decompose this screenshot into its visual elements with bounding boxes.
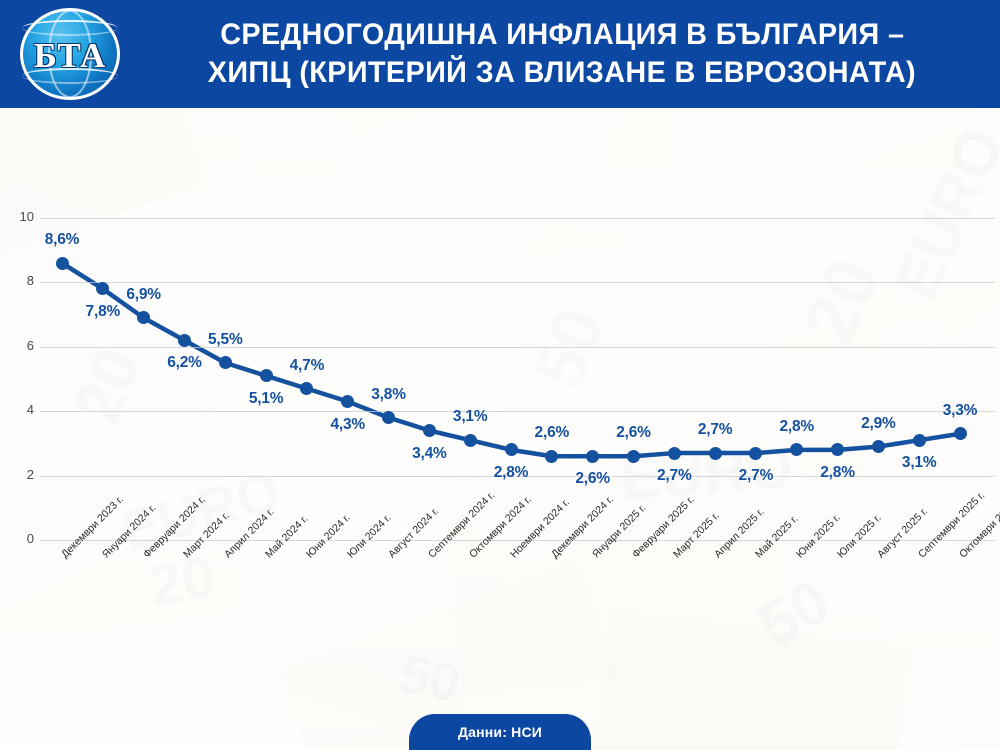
- logo-text: БТА: [14, 36, 126, 76]
- data-point-label: 2,7%: [698, 421, 733, 439]
- data-point-marker: [627, 450, 640, 463]
- data-point-label: 3,3%: [943, 402, 978, 420]
- gridline: [40, 282, 995, 283]
- data-point-marker: [709, 447, 722, 460]
- data-point-marker: [545, 450, 558, 463]
- infographic-page: EURO 20 50 20 EURO EURO 20 50 50 0246810…: [0, 0, 1000, 750]
- y-axis-tick: 2: [8, 467, 34, 482]
- data-point-label: 2,7%: [739, 467, 774, 485]
- data-point-label: 5,5%: [208, 331, 243, 349]
- data-point-label: 4,3%: [330, 416, 365, 434]
- gridline: [40, 218, 995, 219]
- data-point-marker: [872, 440, 885, 453]
- bta-logo: БТА: [14, 6, 126, 102]
- data-point-label: 3,1%: [902, 454, 937, 472]
- data-point-marker: [668, 447, 681, 460]
- page-title: СРЕДНОГОДИШНА ИНФЛАЦИЯ В БЪЛГАРИЯ – ХИПЦ…: [136, 8, 988, 100]
- data-point-marker: [749, 447, 762, 460]
- title-line-2: ХИПЦ (КРИТЕРИЙ ЗА ВЛИЗАНЕ В ЕВРОЗОНАТА): [208, 54, 916, 92]
- data-point-marker: [913, 434, 926, 447]
- data-point-marker: [505, 443, 518, 456]
- data-point-label: 2,6%: [616, 424, 651, 442]
- data-point-label: 6,9%: [126, 286, 161, 304]
- data-point-label: 4,7%: [290, 357, 325, 375]
- data-point-label: 5,1%: [249, 390, 284, 408]
- data-point-label: 2,6%: [575, 470, 610, 488]
- data-point-label: 2,8%: [494, 464, 529, 482]
- data-point-label: 7,8%: [86, 303, 121, 321]
- y-axis-tick: 10: [8, 209, 34, 224]
- chart-line-svg: [0, 0, 1000, 750]
- data-point-label: 3,4%: [412, 445, 447, 463]
- data-point-marker: [586, 450, 599, 463]
- source-label: Данни: НСИ: [458, 724, 542, 740]
- inflation-line-chart: 0246810 Декември 2023 г.Януари 2024 г.Фе…: [0, 0, 1000, 750]
- data-point-label: 6,2%: [167, 354, 202, 372]
- data-point-label: 2,7%: [657, 467, 692, 485]
- data-point-label: 3,1%: [453, 408, 488, 426]
- y-axis-tick: 8: [8, 273, 34, 288]
- y-axis-tick: 6: [8, 338, 34, 353]
- data-point-marker: [423, 424, 436, 437]
- data-point-marker: [178, 334, 191, 347]
- y-axis-tick: 4: [8, 402, 34, 417]
- y-axis-tick: 0: [8, 531, 34, 546]
- data-point-label: 2,9%: [861, 415, 896, 433]
- data-point-marker: [56, 257, 69, 270]
- data-point-label: 2,8%: [820, 464, 855, 482]
- data-point-label: 2,8%: [779, 418, 814, 436]
- gridline: [40, 411, 995, 412]
- data-point-marker: [954, 427, 967, 440]
- header-bar: БТА СРЕДНОГОДИШНА ИНФЛАЦИЯ В БЪЛГАРИЯ – …: [0, 0, 1000, 108]
- data-point-label: 3,8%: [371, 386, 406, 404]
- data-point-label: 8,6%: [45, 231, 80, 249]
- title-line-1: СРЕДНОГОДИШНА ИНФЛАЦИЯ В БЪЛГАРИЯ –: [220, 16, 904, 54]
- data-point-marker: [260, 369, 273, 382]
- gridline: [40, 347, 995, 348]
- data-point-label: 2,6%: [535, 424, 570, 442]
- data-point-marker: [464, 434, 477, 447]
- source-badge: Данни: НСИ: [409, 714, 591, 750]
